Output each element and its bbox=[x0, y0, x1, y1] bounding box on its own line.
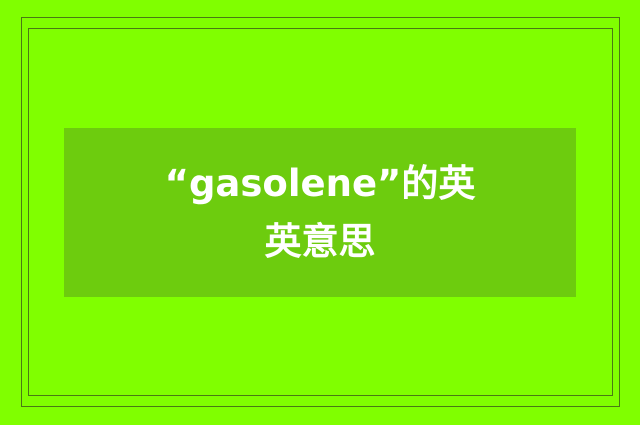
slide-canvas: “gasolene”的英英意思 bbox=[0, 0, 640, 425]
headline-panel: “gasolene”的英英意思 bbox=[64, 128, 576, 297]
headline-text: “gasolene”的英英意思 bbox=[160, 155, 480, 271]
